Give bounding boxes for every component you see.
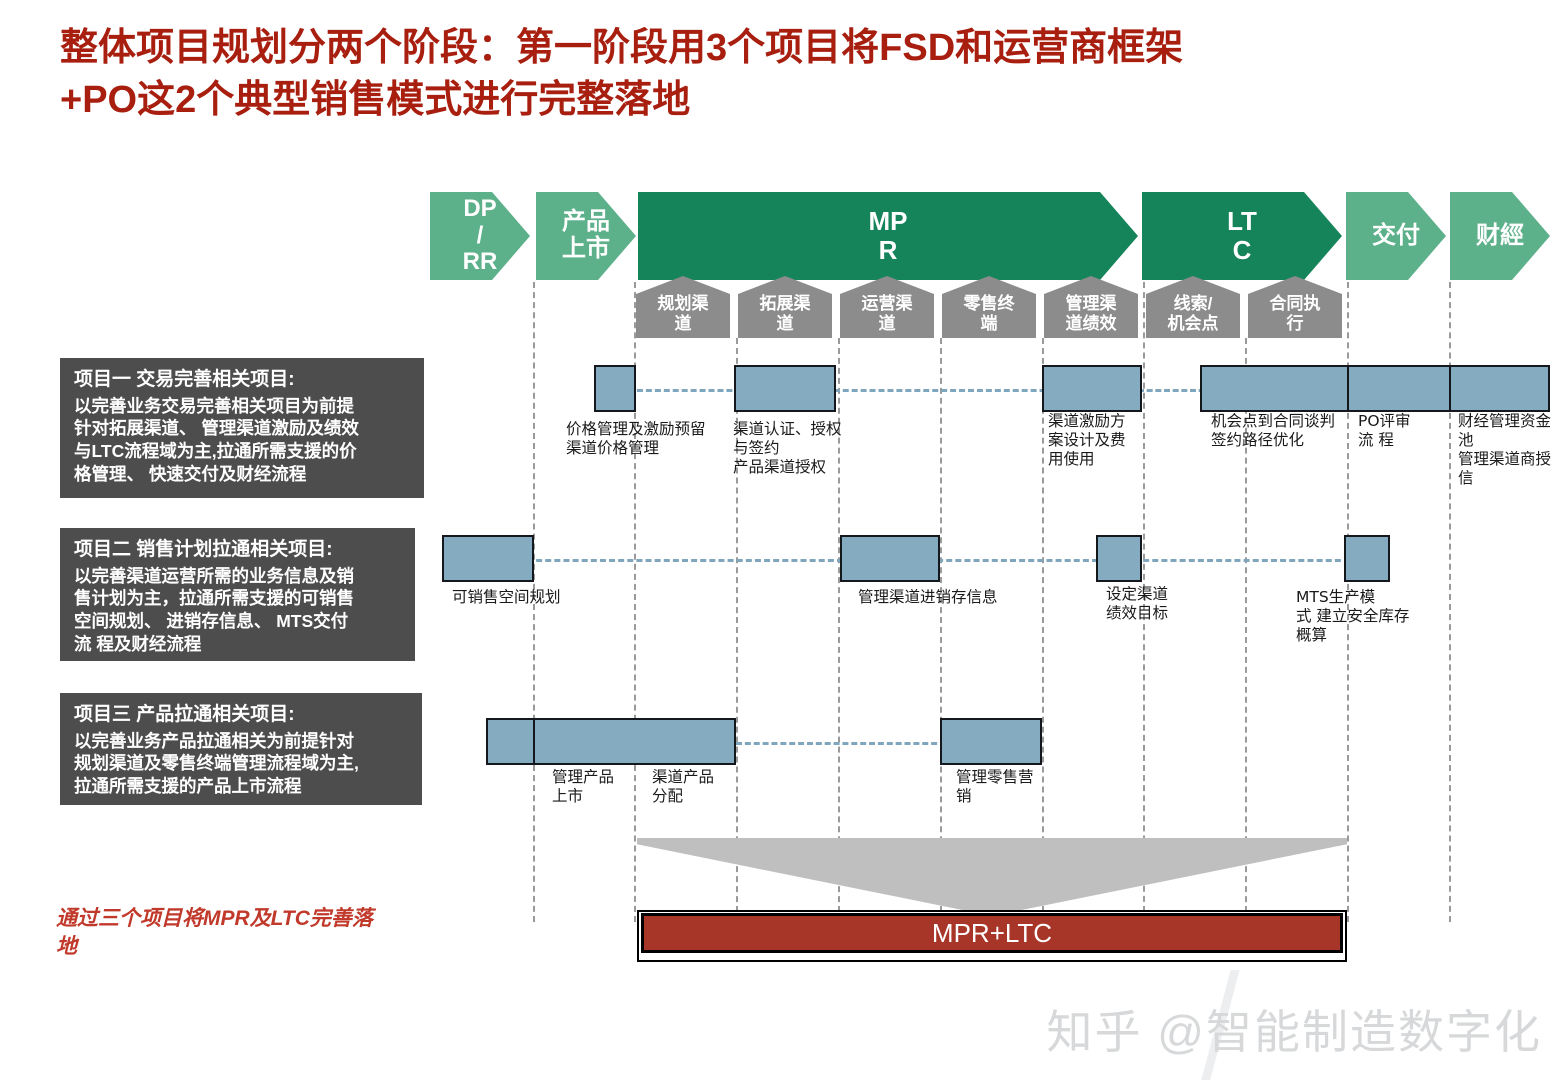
phase-chevron-delivery[interactable]: 交付 bbox=[1346, 192, 1446, 280]
row2-connector-line bbox=[928, 559, 1098, 562]
task-caption: PO评审 流 程 bbox=[1358, 412, 1443, 450]
convergence-funnel bbox=[637, 838, 1347, 916]
column-divider bbox=[940, 338, 942, 922]
task-caption: 管理零售营 销 bbox=[956, 768, 1056, 806]
task-bar[interactable] bbox=[1042, 365, 1142, 412]
subphase-expand-channel[interactable]: 拓展渠 道 bbox=[738, 276, 832, 338]
task-caption: 渠道激励方 案设计及费 用使用 bbox=[1048, 412, 1148, 469]
project-box-two[interactable]: 项目二 销售计划拉通相关项目: 以完善渠道运营所需的业务信息及销 售计划为主，拉… bbox=[60, 528, 415, 661]
project-title: 项目二 销售计划拉通相关项目: bbox=[74, 538, 403, 563]
task-caption: 管理渠道进销存信息 bbox=[858, 588, 1038, 607]
phase-label: 交付 bbox=[1368, 223, 1424, 250]
task-caption: 可销售空间规划 bbox=[452, 588, 622, 607]
phase-chevron-finance[interactable]: 财經 bbox=[1450, 192, 1550, 280]
subphase-contract-execution[interactable]: 合同执 行 bbox=[1248, 276, 1342, 338]
project-title: 项目一 交易完善相关项目: bbox=[74, 368, 412, 393]
task-caption: 管理产品 上市 bbox=[552, 768, 642, 806]
project-box-three[interactable]: 项目三 产品拉通相关项目: 以完善业务产品拉通相关为前提针对 规划渠道及零售终端… bbox=[60, 693, 422, 805]
subphase-label: 规划渠 道 bbox=[658, 294, 709, 334]
task-caption: 价格管理及激励预留 渠道价格管理 bbox=[566, 420, 726, 458]
task-bar[interactable] bbox=[734, 365, 836, 412]
subphase-lead-opportunity[interactable]: 线索/ 机会点 bbox=[1146, 276, 1240, 338]
project-box-one[interactable]: 项目一 交易完善相关项目: 以完善业务交易完善相关项目为前提 针对拓展渠道、 管… bbox=[60, 358, 424, 498]
summary-bar-label: MPR+LTC bbox=[932, 918, 1052, 949]
task-bar-split bbox=[1449, 365, 1451, 412]
task-caption: 渠道产品 分配 bbox=[652, 768, 742, 806]
project-body: 以完善业务交易完善相关项目为前提 针对拓展渠道、 管理渠道激励及绩效 与LTC流… bbox=[74, 395, 412, 486]
task-bar[interactable] bbox=[940, 718, 1042, 765]
summary-bar-mpr-ltc[interactable]: MPR+LTC bbox=[641, 913, 1343, 953]
row3-connector-line bbox=[736, 742, 946, 745]
phase-label: 财經 bbox=[1472, 223, 1528, 250]
subphase-plan-channel[interactable]: 规划渠 道 bbox=[636, 276, 730, 338]
task-bar[interactable] bbox=[594, 365, 636, 412]
subphase-label: 线索/ 机会点 bbox=[1168, 294, 1219, 334]
subphase-operate-channel[interactable]: 运营渠 道 bbox=[840, 276, 934, 338]
task-bar[interactable] bbox=[1344, 535, 1390, 582]
row2-connector-line bbox=[527, 559, 843, 562]
subphase-label: 运营渠 道 bbox=[862, 294, 913, 334]
task-bar-split bbox=[1347, 365, 1349, 412]
task-caption: MTS生产模 式 建立安全库存概算 bbox=[1296, 588, 1414, 645]
phase-label: LT C bbox=[1223, 207, 1261, 265]
task-bar[interactable] bbox=[1096, 535, 1142, 582]
task-caption: 渠道认证、授权 与签约 产品渠道授权 bbox=[733, 420, 853, 477]
subphase-label: 管理渠 道绩效 bbox=[1066, 294, 1117, 334]
bottom-note: 通过三个项目将MPR及LTC完善落 地 bbox=[56, 905, 446, 962]
subphase-channel-performance[interactable]: 管理渠 道绩效 bbox=[1044, 276, 1138, 338]
phase-chevron-dp-rr[interactable]: DP / RR bbox=[430, 192, 530, 280]
project-body: 以完善业务产品拉通相关为前提针对 规划渠道及零售终端管理流程域为主, 拉通所需支… bbox=[74, 730, 410, 798]
task-bar[interactable] bbox=[840, 535, 940, 582]
project-body: 以完善渠道运营所需的业务信息及销 售计划为主，拉通所需支援的可销售 空间规划、 … bbox=[74, 565, 403, 656]
task-caption: 机会点到合同谈判 签约路径优化 bbox=[1211, 412, 1346, 450]
project-title: 项目三 产品拉通相关项目: bbox=[74, 703, 410, 728]
watermark-zhihu: 知乎 @智能制造数字化 bbox=[1047, 996, 1542, 1062]
subphase-label: 零售终 端 bbox=[964, 294, 1015, 334]
phase-chevron-product-launch[interactable]: 产品 上市 bbox=[536, 192, 636, 280]
subphase-retail-terminal[interactable]: 零售终 端 bbox=[942, 276, 1036, 338]
phase-label: 产品 上市 bbox=[558, 209, 614, 263]
task-caption: 设定渠道 绩效目标 bbox=[1106, 585, 1201, 623]
subphase-label: 拓展渠 道 bbox=[760, 294, 811, 334]
page-title: 整体项目规划分两个阶段：第一阶段用3个项目将FSD和运营商框架 +PO这2个典型… bbox=[60, 22, 1500, 127]
task-bar[interactable] bbox=[486, 718, 736, 765]
phase-chevron-mpr[interactable]: MP R bbox=[638, 192, 1138, 280]
column-divider bbox=[1042, 338, 1044, 922]
task-bar[interactable] bbox=[1200, 365, 1550, 412]
phase-label: DP / RR bbox=[459, 196, 502, 277]
subphase-label: 合同执 行 bbox=[1270, 294, 1321, 334]
row2-connector-line bbox=[1134, 559, 1350, 562]
task-bar-split bbox=[533, 718, 535, 765]
phase-chevron-ltc[interactable]: LT C bbox=[1142, 192, 1342, 280]
phase-label: MP R bbox=[865, 207, 912, 265]
task-caption: 财经管理资金 池 管理渠道商授 信 bbox=[1458, 412, 1560, 488]
task-bar[interactable] bbox=[442, 535, 534, 582]
